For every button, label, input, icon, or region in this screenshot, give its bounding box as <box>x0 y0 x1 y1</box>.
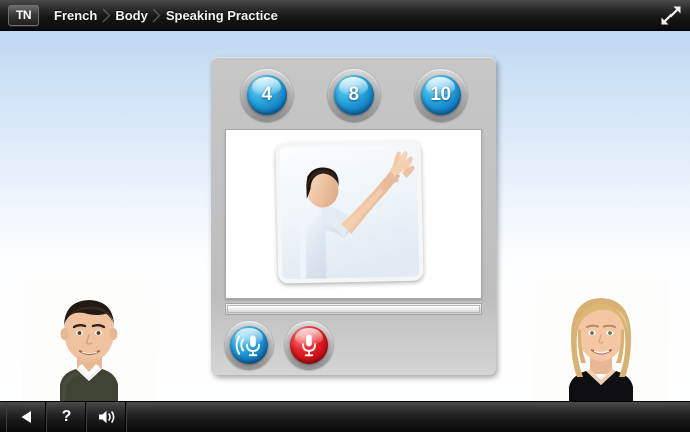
top-navigation-bar: TN French Body Speaking Practice <box>0 0 690 31</box>
video-progress-scrollbar[interactable] <box>225 303 482 315</box>
number-button-row: 4 8 10 <box>211 67 496 123</box>
person-left-male <box>22 277 157 402</box>
tn-logo[interactable]: TN <box>8 5 39 26</box>
bottom-toolbar: ? <box>0 401 690 432</box>
number-button-10-face: 10 <box>421 75 461 115</box>
outstretched-arm-illustration <box>280 145 420 280</box>
scrollbar-thumb[interactable] <box>227 305 480 313</box>
chevron-right-icon <box>152 8 161 23</box>
man-with-outstretched-arm-photo <box>276 140 424 283</box>
record-button-face <box>290 326 328 364</box>
number-button-4-face: 4 <box>247 75 287 115</box>
volume-button[interactable] <box>87 402 127 432</box>
number-button-4-label: 4 <box>261 84 271 106</box>
fullscreen-expand-icon[interactable] <box>660 5 682 26</box>
speaking-practice-panel: 4 8 10 <box>211 57 496 375</box>
video-display-area[interactable] <box>225 129 482 299</box>
record-button[interactable] <box>285 321 333 369</box>
breadcrumb-item-speaking-practice: Speaking Practice <box>166 8 278 23</box>
speaking-practice-app: TN French Body Speaking Practice <box>0 0 690 432</box>
breadcrumb-item-french[interactable]: French <box>54 8 97 23</box>
back-triangle-icon <box>19 409 35 425</box>
breadcrumb-separator-icon <box>97 0 115 31</box>
speaker-volume-icon <box>97 409 117 425</box>
audio-control-row <box>225 321 482 369</box>
number-button-8-face: 8 <box>334 75 374 115</box>
microphone-with-soundwaves-icon <box>234 330 264 360</box>
number-button-8-label: 8 <box>348 84 358 106</box>
number-button-8[interactable]: 8 <box>328 69 380 121</box>
listen-playback-button[interactable] <box>225 321 273 369</box>
male-student-portrait <box>22 277 157 402</box>
breadcrumb-separator-icon-2 <box>148 0 166 31</box>
number-button-4[interactable]: 4 <box>241 69 293 121</box>
listen-playback-button-face <box>230 326 268 364</box>
number-button-10[interactable]: 10 <box>415 69 467 121</box>
microphone-record-icon <box>294 330 324 360</box>
breadcrumb-item-body[interactable]: Body <box>115 8 148 23</box>
back-button[interactable] <box>6 402 47 432</box>
number-button-10-label: 10 <box>430 84 450 106</box>
question-mark-icon: ? <box>62 409 72 425</box>
person-right-female <box>533 277 668 402</box>
lesson-stage-background: 4 8 10 <box>0 31 690 432</box>
help-button[interactable]: ? <box>47 402 87 432</box>
fullscreen-arrows-icon <box>660 5 682 26</box>
chevron-right-icon <box>102 8 111 23</box>
female-student-portrait <box>533 277 668 402</box>
